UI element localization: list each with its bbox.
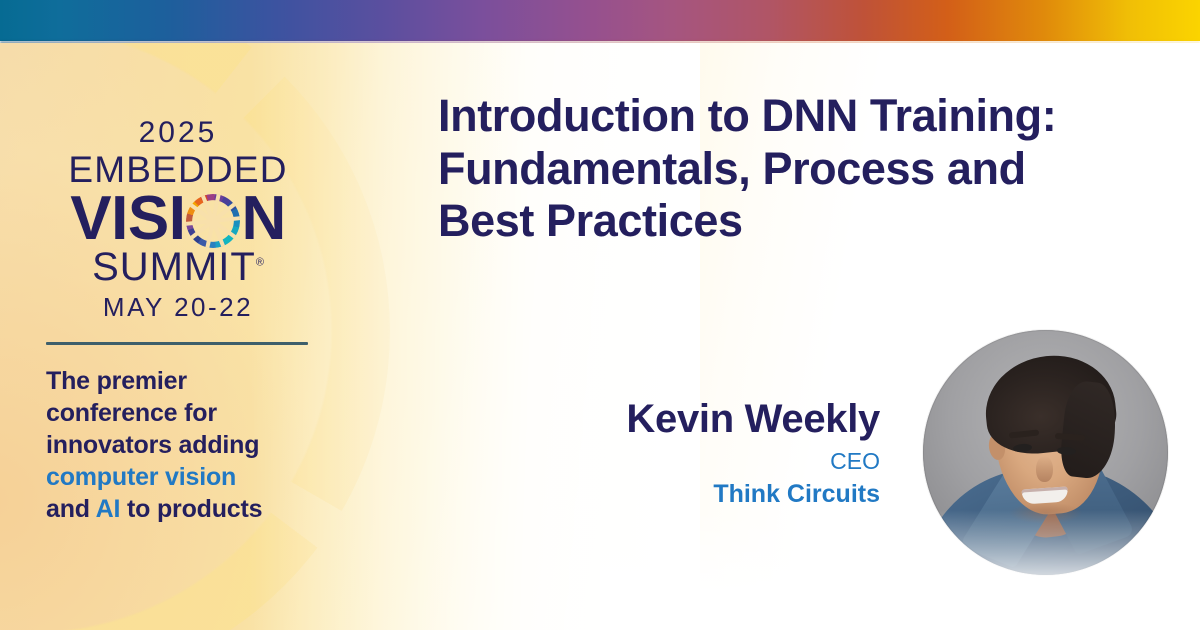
tagline-line-2: conference for [46, 399, 217, 427]
logo-vision-suffix: N [241, 188, 285, 250]
logo-summit-trademark: ® [256, 257, 264, 269]
logo-vision-word: VISI N [38, 188, 318, 250]
event-promo-card: 2025 EMBEDDED VISI N SUMMIT® MAY 20-22 T… [0, 0, 1200, 630]
headshot-circle-outline [923, 330, 1168, 575]
speaker-name: Kevin Weekly [430, 398, 880, 440]
panel-divider [46, 342, 308, 345]
speaker-headshot [923, 330, 1168, 575]
tagline-line-4-prefix: and [46, 495, 96, 523]
logo-vision-prefix: VISI [70, 188, 185, 250]
tagline-line-1: The premier [46, 367, 187, 395]
vision-ring-icon [186, 194, 240, 248]
logo-event-dates: MAY 20-22 [38, 294, 318, 320]
top-gradient-bar [0, 0, 1200, 41]
session-title: Introduction to DNN Training: Fundamenta… [438, 90, 1128, 248]
event-tagline: The premier conference for innovators ad… [46, 365, 318, 525]
speaker-role: CEO [430, 447, 880, 477]
speaker-company: Think Circuits [430, 479, 880, 510]
speaker-info: Kevin Weekly CEO Think Circuits [430, 398, 880, 510]
logo-summit-word: SUMMIT® [38, 246, 318, 288]
tagline-line-4-suffix: to products [120, 495, 262, 523]
logo-summit-text: SUMMIT [92, 245, 256, 289]
event-branding-panel: 2025 EMBEDDED VISI N SUMMIT® MAY 20-22 T… [38, 118, 318, 525]
logo-year: 2025 [38, 118, 318, 148]
tagline-line-3: innovators adding [46, 431, 259, 459]
tagline-accent-ai: AI [96, 495, 121, 523]
tagline-accent-computer-vision: computer vision [46, 463, 236, 491]
